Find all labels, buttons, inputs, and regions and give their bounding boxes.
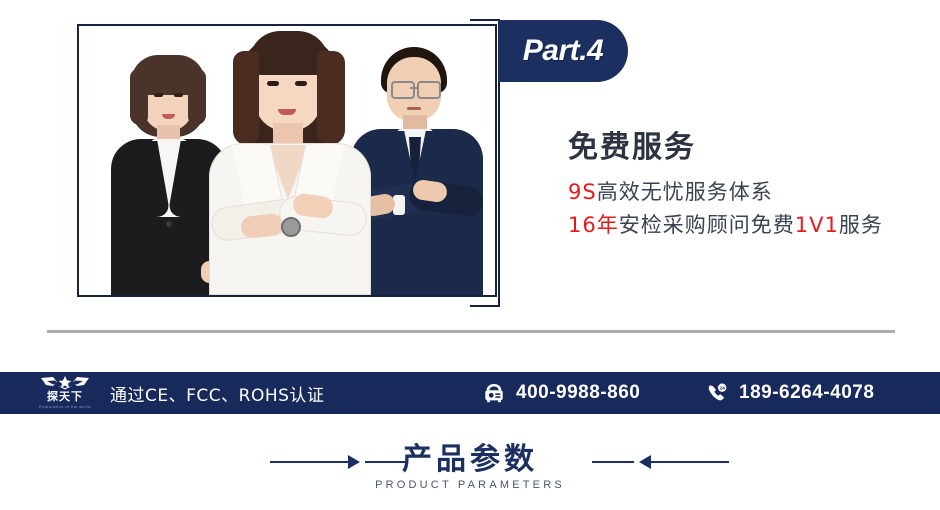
company-logo: 探天下 Exploration of the world <box>37 374 93 412</box>
poster-canvas: Part.4 免费服务 9S高效无忧服务体系 16年安检采购顾问免费1V1服务 … <box>0 0 940 510</box>
service-bullet-2-text-mid: 安检采购顾问免费 <box>619 213 795 237</box>
service-bullet-2-text-tail: 服务 <box>839 213 883 237</box>
service-bullet-2-highlight-a: 16年 <box>568 213 619 237</box>
contact-phone-mobile[interactable]: 24 189-6264-4078 <box>706 372 874 414</box>
horizontal-divider <box>47 330 895 333</box>
service-bullet-2: 16年安检采购顾问免费1V1服务 <box>568 209 883 239</box>
service-bullet-1-highlight: 9S <box>568 180 597 204</box>
person-center-white-suit <box>197 27 383 295</box>
section-title: 免费服务 <box>568 122 696 166</box>
team-photo <box>79 26 495 295</box>
product-parameters-section: 产品参数 PRODUCT PARAMETERS <box>0 434 940 510</box>
team-photo-frame <box>77 24 497 297</box>
eagle-wing-icon <box>40 376 90 391</box>
svg-text:24: 24 <box>719 386 725 392</box>
service-bullet-1-text: 高效无忧服务体系 <box>597 180 773 204</box>
bracket-top-segment <box>470 19 500 21</box>
phone-24h-icon: 24 <box>706 382 728 404</box>
hotline-number: 400-9988-860 <box>516 382 640 404</box>
product-parameters-title-en: PRODUCT PARAMETERS <box>0 479 940 491</box>
certification-text: 通过CE、FCC、ROHS认证 <box>110 372 324 414</box>
logo-chinese-name: 探天下 <box>37 391 93 403</box>
service-bullet-1: 9S高效无忧服务体系 <box>568 176 773 206</box>
logo-english-tagline: Exploration of the world <box>37 404 93 409</box>
bracket-bottom-segment <box>470 305 500 307</box>
service-bullet-2-highlight-b: 1V1 <box>795 213 839 237</box>
part-number-badge: Part.4 <box>498 20 628 82</box>
product-parameters-title-cn: 产品参数 <box>0 434 940 478</box>
telephone-icon <box>483 382 505 404</box>
mobile-number: 189-6264-4078 <box>739 382 874 404</box>
part-badge-label: Part.4 <box>523 34 603 68</box>
contact-phone-hotline[interactable]: 400-9988-860 <box>483 372 640 414</box>
